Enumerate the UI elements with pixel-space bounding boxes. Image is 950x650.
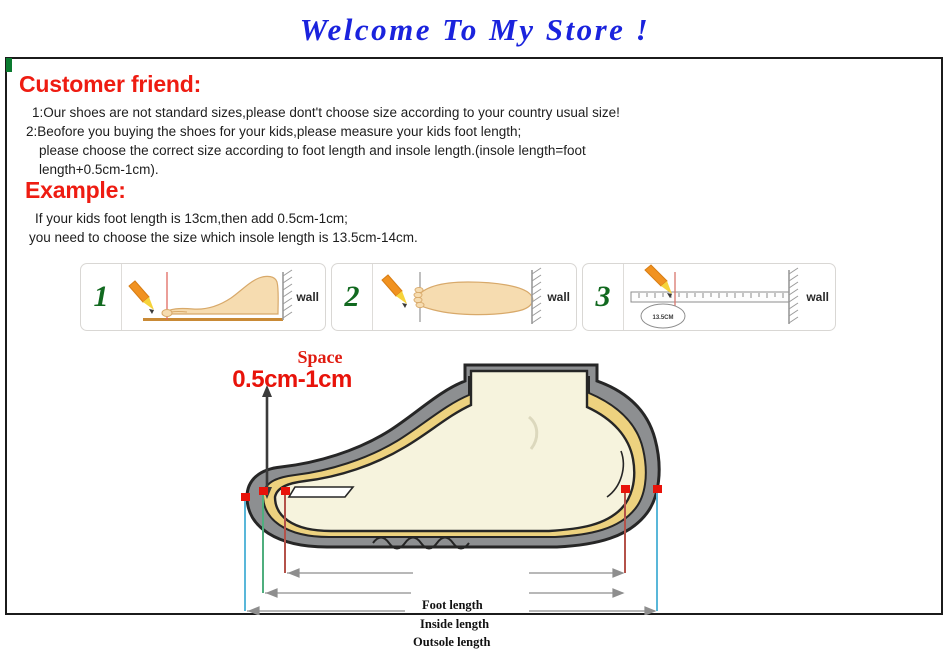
corner-accent-mark [6, 58, 12, 72]
step-panel-2: 2 [331, 263, 577, 331]
space-label-value: 0.5cm-1cm [177, 366, 407, 394]
step-illustration-1: wall [121, 264, 325, 330]
dimension-label-inside-length: Inside length [420, 617, 489, 632]
content-frame: Customer friend: 1:Our shoes are not sta… [5, 57, 943, 615]
dimension-label-outsole-length: Outsole length [413, 635, 490, 650]
example-line-2: you need to choose the size which insole… [29, 228, 418, 247]
step-number-2: 2 [345, 280, 360, 314]
dimension-label-foot-length: Foot length [422, 598, 483, 613]
ruler-callout-value: 13.5CM [652, 315, 673, 321]
step-number-1: 1 [94, 280, 109, 314]
step-number-cell-2: 2 [332, 264, 373, 330]
customer-friend-heading: Customer friend: [19, 71, 201, 98]
wall-label-2: wall [547, 290, 570, 304]
wall-label-3: wall [806, 290, 829, 304]
example-heading: Example: [25, 177, 126, 204]
step-panel-1: 1 [80, 263, 326, 331]
step-number-cell-1: 1 [81, 264, 122, 330]
space-label-title: Space [240, 347, 400, 368]
step-number-3: 3 [596, 280, 611, 314]
example-line-1: If your kids foot length is 13cm,then ad… [35, 209, 348, 228]
wall-label-1: wall [296, 290, 319, 304]
notice-line-1: 1:Our shoes are not standard sizes,pleas… [32, 103, 620, 122]
notice-line-2: 2:Beofore you buying the shoes for your … [26, 122, 521, 141]
page-title: Welcome To My Store ! [0, 12, 950, 48]
step-number-cell-3: 3 [583, 264, 624, 330]
product-size-guide-page: Welcome To My Store ! Customer friend: 1… [0, 0, 950, 623]
step-illustration-3: 13.5CM wall [623, 264, 835, 330]
measurement-steps: 1 [80, 263, 836, 331]
shoe-cross-section-diagram: Space 0.5cm-1cm [177, 347, 737, 615]
step-illustration-2: wall [372, 264, 576, 330]
notice-line-3: please choose the correct size according… [39, 141, 586, 160]
step-panel-3: 3 [582, 263, 836, 331]
